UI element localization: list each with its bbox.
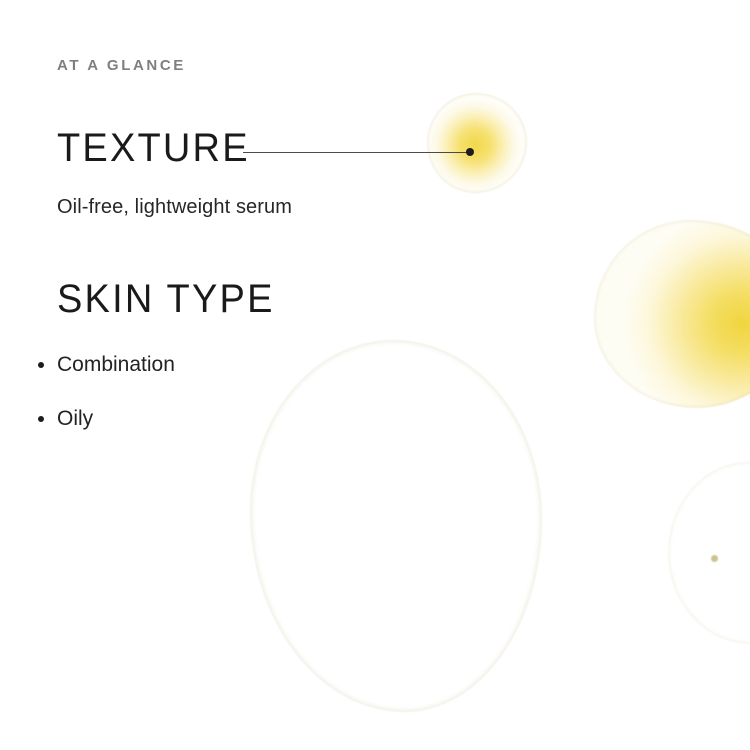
at-a-glance-panel: AT A GLANCE TEXTURE Oil-free, lightweigh… [0, 0, 750, 750]
eyebrow-label: AT A GLANCE [57, 57, 186, 74]
section-skin-type: SKIN TYPE [57, 279, 275, 317]
list-item-label: Combination [57, 353, 175, 376]
content-layer: AT A GLANCE TEXTURE Oil-free, lightweigh… [0, 0, 750, 750]
texture-leader-dot [466, 148, 474, 156]
list-item: Oily [36, 402, 175, 456]
texture-leader-line [243, 152, 472, 153]
list-item-label: Oily [57, 407, 93, 430]
section-heading-skin-type: SKIN TYPE [57, 279, 275, 319]
bullet-dot-icon [38, 362, 44, 368]
section-heading-texture: TEXTURE [57, 128, 250, 168]
texture-description: Oil-free, lightweight serum [57, 196, 292, 219]
section-texture: TEXTURE [57, 128, 250, 166]
bullet-dot-icon [38, 416, 44, 422]
list-item: Combination [36, 348, 175, 402]
skin-type-list: Combination Oily [36, 348, 175, 456]
